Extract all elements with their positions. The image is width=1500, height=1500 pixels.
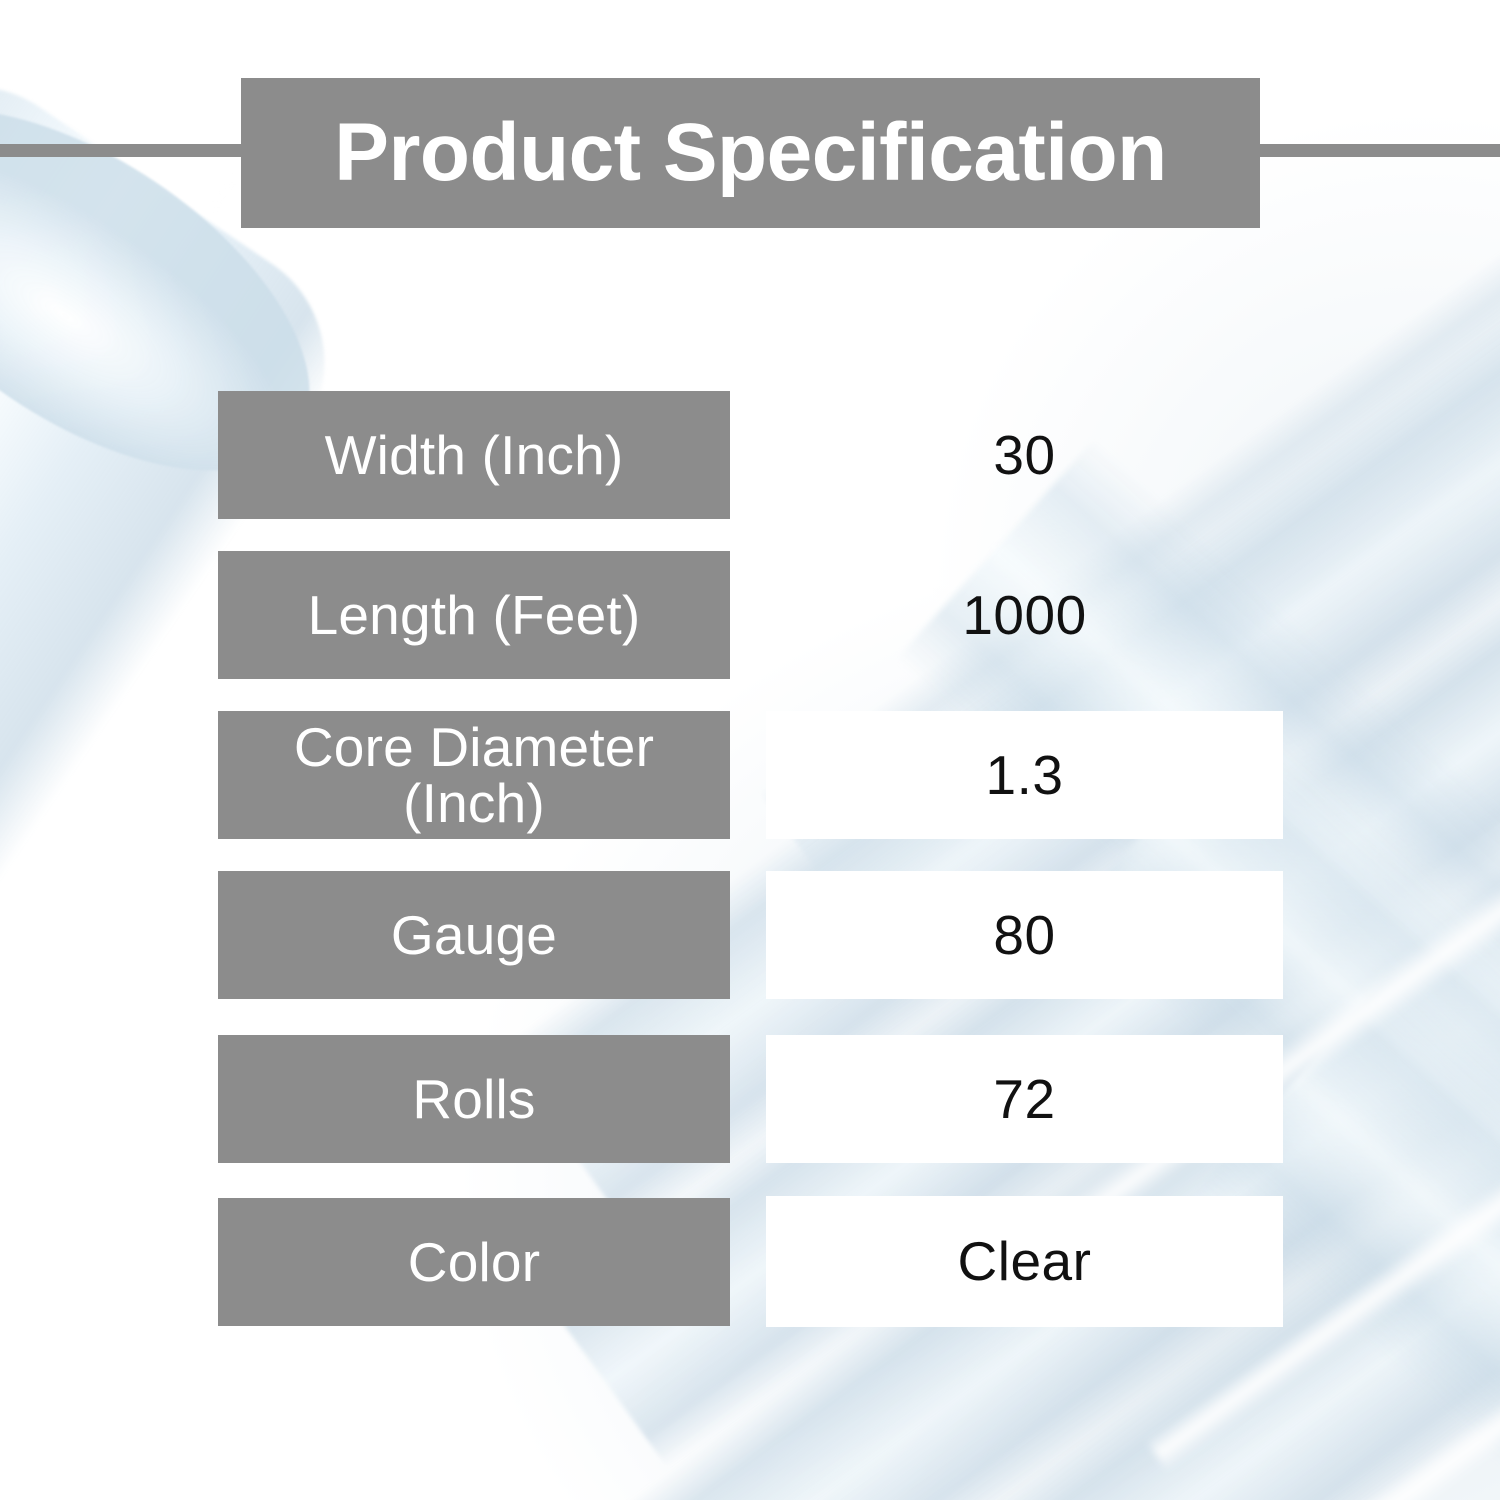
spec-label-cell: Color	[218, 1198, 730, 1326]
spec-value-cell: 80	[766, 871, 1283, 999]
spec-label: Length (Feet)	[308, 587, 641, 643]
specification-table: Width (Inch) 30 Length (Feet) 1000 Core …	[0, 0, 1500, 1500]
spec-value-cell: 1000	[766, 551, 1283, 679]
spec-value: 1.3	[986, 748, 1064, 803]
spec-value: 1000	[962, 588, 1086, 643]
spec-value-cell: Clear	[766, 1196, 1283, 1327]
spec-value: 72	[993, 1072, 1055, 1127]
spec-label: Rolls	[412, 1071, 535, 1127]
spec-label: Core Diameter (Inch)	[259, 719, 689, 831]
spec-label-cell: Rolls	[218, 1035, 730, 1163]
spec-label-cell: Width (Inch)	[218, 391, 730, 519]
spec-label: Gauge	[391, 907, 557, 963]
spec-label: Width (Inch)	[325, 427, 624, 483]
spec-value-cell: 1.3	[766, 711, 1283, 839]
spec-value-cell: 30	[766, 391, 1283, 519]
product-specification-card: Product Specification Width (Inch) 30 Le…	[0, 0, 1500, 1500]
spec-value-cell: 72	[766, 1035, 1283, 1163]
spec-value: Clear	[958, 1234, 1092, 1289]
spec-label-cell: Core Diameter (Inch)	[218, 711, 730, 839]
spec-label-cell: Length (Feet)	[218, 551, 730, 679]
spec-label: Color	[408, 1234, 540, 1290]
spec-label-cell: Gauge	[218, 871, 730, 999]
spec-value: 80	[993, 908, 1055, 963]
spec-value: 30	[993, 428, 1055, 483]
